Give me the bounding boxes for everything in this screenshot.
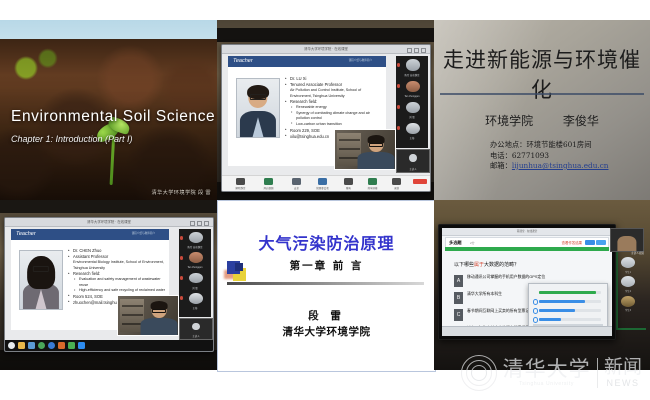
panel-new-energy: 走进新能源与环境催化 环境学院 李俊华 办公地点：环境节能楼601房间 电话：6… <box>434 20 650 200</box>
list-item: Evaluation and safety management of wast… <box>68 277 166 288</box>
list-item: Air Pollution and Control Institute, Sch… <box>285 88 383 99</box>
people-icon[interactable] <box>318 178 327 185</box>
quiz-score-badge: 2分 <box>470 241 475 245</box>
presenter-silhouette <box>617 236 636 251</box>
mic-muted-icon <box>180 296 183 300</box>
progress-bar <box>445 247 609 251</box>
slide-title: 大气污染防治原理 <box>221 230 432 254</box>
avatar <box>621 296 635 307</box>
participant-name: 王菊 <box>397 136 426 140</box>
avatar <box>406 102 419 113</box>
list-item[interactable]: 王菊 <box>396 121 428 140</box>
self-view-video[interactable] <box>334 129 396 170</box>
window-title: 清华大学环境学院 · 在线课堂 <box>87 219 131 224</box>
sky-background <box>0 20 217 39</box>
avatar <box>406 81 419 92</box>
lecturer-name: 段 雷 <box>221 308 432 323</box>
participant-list[interactable]: 学生1 学生2 学生3 <box>610 256 646 330</box>
result-track <box>539 309 601 312</box>
mic-muted-icon <box>397 84 400 88</box>
headshot-hair <box>27 256 55 290</box>
participant-name: 学生3 <box>610 308 646 312</box>
mic-muted-icon <box>397 105 400 109</box>
participant-name: Tan zhongqun <box>397 95 426 98</box>
teacher-headshot <box>19 250 63 310</box>
participant-list[interactable]: 陈玲 自动静音 Tan zhongqun 刘 雪 王菊 <box>396 56 428 148</box>
result-row <box>533 308 603 312</box>
maximize-button[interactable] <box>414 48 419 53</box>
end-meeting-button[interactable] <box>413 179 427 184</box>
result-row <box>533 290 603 294</box>
slide-subtitle: 环境学院 李俊华 <box>434 112 650 129</box>
quiz-type-label: 多选题 <box>449 240 462 246</box>
glasses-icon <box>250 94 266 100</box>
toolbar-label: 聊天 <box>346 186 351 190</box>
result-track <box>539 318 601 321</box>
wechat-icon[interactable] <box>68 342 75 349</box>
avatar <box>189 273 202 284</box>
participant-name: 陈玲 自动静音 <box>180 245 209 249</box>
list-item[interactable]: 学生2 <box>610 275 646 293</box>
slide-header-text: Teacher <box>233 58 253 64</box>
mic-muted-icon <box>180 236 183 240</box>
zoom-icon[interactable] <box>78 342 85 349</box>
option-key: C <box>454 309 463 321</box>
avatar <box>189 252 202 263</box>
email-label: 邮箱： <box>490 161 512 170</box>
microphone-icon[interactable] <box>236 178 245 185</box>
divider <box>227 282 424 285</box>
phone-number: 电话：62771093 <box>490 151 609 162</box>
list-item[interactable]: 刘 雪 <box>396 100 428 119</box>
share-screen-icon[interactable] <box>368 178 377 185</box>
folder-icon[interactable] <box>18 342 25 349</box>
os-taskbar[interactable] <box>5 340 213 351</box>
avatar <box>621 276 635 287</box>
prev-page-button[interactable] <box>585 240 595 245</box>
avatar <box>189 232 202 243</box>
next-page-button[interactable] <box>596 240 606 245</box>
window-title: 清华大学环境学院 · 在线课堂 <box>304 46 348 51</box>
camera-icon[interactable] <box>264 178 273 185</box>
decor-square-navy <box>235 263 243 271</box>
option-key: A <box>454 275 463 287</box>
result-track <box>539 300 601 303</box>
slide-chapter: 第一章 前 言 <box>221 258 432 273</box>
maximize-button[interactable] <box>197 221 202 226</box>
monitor: 雨课堂 · 在线课堂 多选题 2分 查看作答结果 以下哪些属于大数据的范畴？ A… <box>438 224 616 340</box>
university-name-en: Tsinghua University <box>519 381 574 387</box>
record-icon[interactable] <box>392 178 401 185</box>
slide-canvas: 大气污染防治原理 第一章 前 言 段 雷 清华大学环境学院 <box>221 204 432 368</box>
slide-header-note: 课程介绍与教师简介 <box>132 231 155 235</box>
list-item[interactable]: Tan zhongqun <box>179 251 211 269</box>
slide-credit: 清华大学环境学院 段 雷 <box>151 189 211 196</box>
glasses-icon <box>152 309 166 313</box>
mic-muted-icon <box>397 126 400 130</box>
shield-icon[interactable] <box>292 178 301 185</box>
window-titlebar: 雨课堂 · 在线课堂 <box>442 228 612 236</box>
chrome-icon[interactable] <box>38 342 45 349</box>
window-titlebar: 清华大学环境学院 · 在线课堂 <box>5 218 213 227</box>
notes-icon[interactable] <box>58 342 65 349</box>
result-fill <box>539 309 575 312</box>
glasses-icon <box>33 266 49 272</box>
view-results-button[interactable]: 查看作答结果 <box>562 240 582 245</box>
collage-root: Environmental Soil Science Chapter 1: In… <box>0 0 650 400</box>
os-taskbar[interactable] <box>442 326 612 336</box>
window-title: 雨课堂 · 在线课堂 <box>517 229 537 233</box>
active-speaker-thumb[interactable]: 主讲人 <box>179 318 213 340</box>
close-button[interactable] <box>421 48 426 53</box>
participant-name: 学生1 <box>610 270 646 274</box>
avatar <box>189 293 202 304</box>
option-key: B <box>454 292 463 304</box>
toolbar-label: 共享屏幕 <box>367 186 377 190</box>
avatar <box>406 59 419 70</box>
self-view-video[interactable] <box>117 295 179 336</box>
list-item[interactable]: 王菊 <box>179 291 211 309</box>
list-item[interactable]: 陈玲 自动静音 <box>396 58 428 77</box>
presenter-camera-label: 主讲人视频 <box>631 251 644 255</box>
self-view-label: 主讲人 <box>397 167 429 171</box>
contact-block: 办公地点：环境节能楼601房间 电话：62771093 邮箱：lijunhua@… <box>490 140 609 172</box>
monitor-screen: 雨课堂 · 在线课堂 多选题 2分 查看作答结果 以下哪些属于大数据的范畴？ A… <box>442 228 612 336</box>
email-link[interactable]: lijunhua@tsinghua.edu.cn <box>512 161 609 170</box>
participant-name: Tan zhongqun <box>180 266 209 269</box>
panel-air-pollution: 大气污染防治原理 第一章 前 言 段 雷 清华大学环境学院 <box>217 200 436 372</box>
list-item: Synergy of combating climate change and … <box>285 111 383 122</box>
question-highlight: 属于 <box>474 262 484 268</box>
participant-name: 刘 雪 <box>397 115 426 119</box>
question-text: 以下哪些属于大数据的范畴？ <box>454 261 519 268</box>
mic-muted-icon <box>180 256 183 260</box>
question-suffix: 大数据的范畴？ <box>484 262 519 268</box>
teacher-headshot <box>236 78 280 138</box>
chat-icon[interactable] <box>344 178 353 185</box>
option-text: 移动通讯公司掌握的手机用户数据的GPS定位 <box>467 274 555 280</box>
mic-muted-icon <box>397 63 400 67</box>
self-view-person <box>142 301 176 335</box>
slide-header-text: Teacher <box>16 231 36 237</box>
avatar <box>409 154 417 162</box>
shelf-edge-top <box>0 200 217 213</box>
start-icon[interactable] <box>8 342 15 349</box>
slide-subtitle: Chapter 1: Introduction (Part I) <box>11 134 133 144</box>
slide-title: Environmental Soil Science <box>11 108 215 126</box>
toolbar-label: 录制 <box>394 186 399 190</box>
close-button[interactable] <box>204 221 209 226</box>
participant-list[interactable]: 陈玲 自动静音 Tan zhongqun 刘 雪 王菊 <box>179 229 211 317</box>
avatar <box>621 257 635 268</box>
divider <box>440 93 644 95</box>
news-label-en: NEWS <box>606 378 639 388</box>
zoom-toolbar[interactable]: 解除静音 开启视频 安全 管理参会者 聊天 共享屏幕 录制 <box>222 175 430 191</box>
minimize-button[interactable] <box>190 221 195 226</box>
affiliation-text: 清华大学环境学院 <box>221 324 432 339</box>
photo-icon[interactable] <box>48 342 55 349</box>
toolbar-label: 开启视频 <box>263 186 273 190</box>
radio-icon[interactable] <box>533 308 538 313</box>
list-item[interactable]: Tan zhongqun <box>396 79 428 98</box>
panel-zoom-lu-xi: 清华大学环境学院 · 在线课堂 Teacher 课程介绍与教师简介 <box>217 20 434 200</box>
toolbar-label: 安全 <box>294 186 299 190</box>
email-row: 邮箱：lijunhua@tsinghua.edu.cn <box>490 161 609 172</box>
participant-name: 王菊 <box>180 306 209 310</box>
panel-quiz-monitor: 雨课堂 · 在线课堂 多选题 2分 查看作答结果 以下哪些属于大数据的范畴？ A… <box>434 200 650 370</box>
result-row <box>533 317 603 321</box>
panel-soil-science: Environmental Soil Science Chapter 1: In… <box>0 20 217 200</box>
participant-name: 陈玲 自动静音 <box>397 73 426 77</box>
list-item[interactable]: 陈玲 自动静音 <box>179 231 211 249</box>
shelf-edge-top <box>217 28 434 42</box>
participant-name: 学生2 <box>610 289 646 293</box>
mic-muted-icon <box>180 276 183 280</box>
result-row <box>533 299 603 303</box>
presenter-camera[interactable] <box>610 228 644 252</box>
result-fill <box>539 300 585 303</box>
glasses-icon <box>369 143 383 147</box>
minimize-button[interactable] <box>407 48 412 53</box>
affiliation-text: 环境学院 <box>485 114 533 128</box>
active-speaker-thumb[interactable]: 主讲人 <box>396 149 430 173</box>
avatar <box>192 323 200 331</box>
office-location: 办公地点：环境节能楼601房间 <box>490 140 609 151</box>
list-item: Environmental Biology Institute, School … <box>68 260 166 271</box>
shelf-edge-bottom <box>0 350 217 370</box>
radio-icon[interactable] <box>533 299 538 304</box>
laptop-screen: 清华大学环境学院 · 在线课堂 Teacher 课程介绍与教师简介 <box>4 217 214 352</box>
window-titlebar: 清华大学环境学院 · 在线课堂 <box>222 45 430 54</box>
self-view-label: 主讲人 <box>180 334 212 338</box>
laptop-screen: 清华大学环境学院 · 在线课堂 Teacher 课程介绍与教师简介 <box>221 44 431 192</box>
toolbar-label: 解除静音 <box>235 186 245 190</box>
list-item[interactable]: 学生1 <box>610 256 646 274</box>
avatar <box>406 123 419 134</box>
toolbar-label: 管理参会者 <box>316 186 329 190</box>
lecturer-name: 李俊华 <box>563 114 599 128</box>
participant-name: 刘 雪 <box>180 286 209 290</box>
slide-title: 走进新能源与环境催化 <box>434 44 650 104</box>
list-item[interactable]: 刘 雪 <box>179 271 211 289</box>
self-view-person <box>359 135 393 169</box>
result-fill <box>539 291 596 294</box>
person-torso <box>357 152 394 169</box>
person-torso <box>140 318 177 335</box>
slide-header-note: 课程介绍与教师简介 <box>349 58 372 62</box>
mail-icon[interactable] <box>28 342 35 349</box>
panel-zoom-chen-zhuo: 清华大学环境学院 · 在线课堂 Teacher 课程介绍与教师简介 <box>0 200 217 370</box>
result-fill <box>539 318 561 321</box>
radio-icon[interactable] <box>533 317 538 322</box>
result-track <box>539 291 601 294</box>
list-item[interactable]: 学生3 <box>610 294 646 312</box>
question-prefix: 以下哪些 <box>454 262 474 268</box>
